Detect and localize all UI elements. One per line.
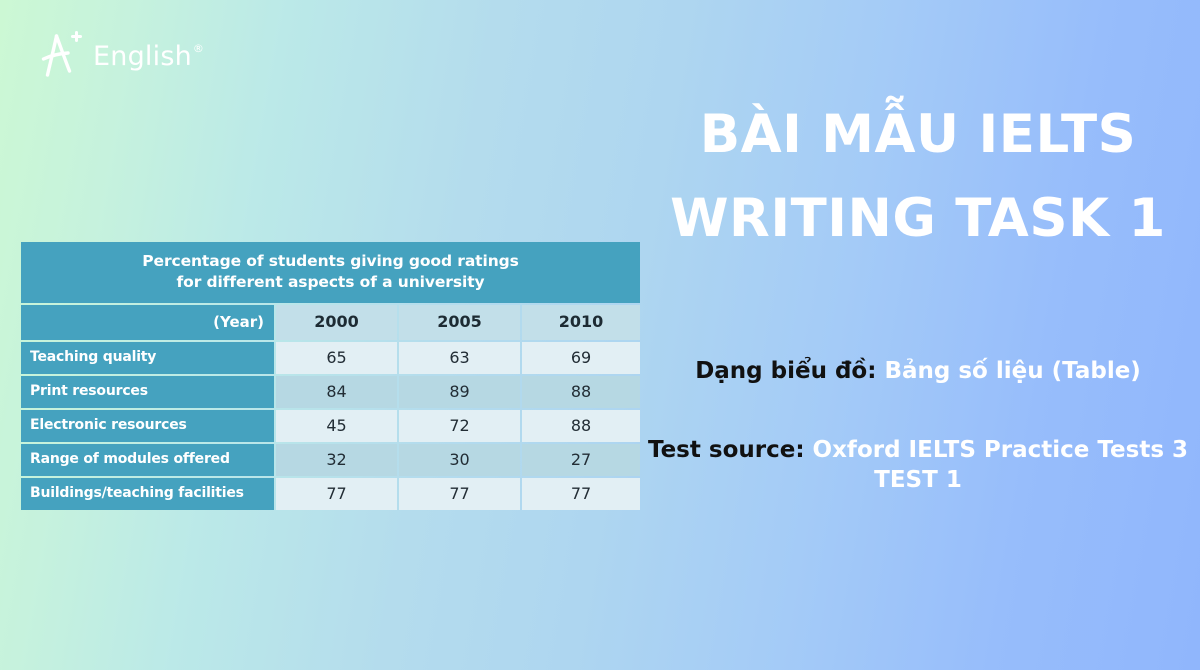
page-title: BÀI MẪU IELTS WRITING TASK 1 [648,108,1188,245]
headline-block: BÀI MẪU IELTS WRITING TASK 1 [648,108,1188,245]
table: Percentage of students giving good ratin… [19,240,642,512]
cell-teaching-quality-2010: 69 [522,342,640,374]
chart-type-label: Dạng biểu đồ: [695,358,876,384]
table-row: Teaching quality 65 63 69 [21,342,640,374]
chart-type-value: Bảng số liệu (Table) [884,358,1140,384]
table-row: Range of modules offered 32 30 27 [21,444,640,476]
cell-print-resources-2000: 84 [276,376,397,408]
cell-teaching-quality-2005: 63 [399,342,520,374]
cell-range-of-modules-2000: 32 [276,444,397,476]
table-title: Percentage of students giving good ratin… [21,242,640,303]
test-source-value-line2: TEST 1 [640,466,1196,496]
column-header-2000: 2000 [276,305,397,340]
cell-buildings-2005: 77 [399,478,520,510]
column-header-2010: 2010 [522,305,640,340]
test-source-value-line1: Oxford IELTS Practice Tests 3 [813,437,1188,463]
chart-type-line: Dạng biểu đồ: Bảng số liệu (Table) [640,357,1196,387]
registered-mark: ® [193,42,204,55]
column-header-2005: 2005 [399,305,520,340]
table-title-line2: for different aspects of a university [27,272,634,293]
row-label-teaching-quality: Teaching quality [21,342,274,374]
cell-range-of-modules-2005: 30 [399,444,520,476]
ielts-data-table: Percentage of students giving good ratin… [19,240,636,512]
row-label-electronic-resources: Electronic resources [21,410,274,442]
brand-logo: English® [34,27,203,81]
cell-buildings-2000: 77 [276,478,397,510]
headline-line1: BÀI MẪU IELTS [700,104,1137,165]
row-label-range-of-modules-offered: Range of modules offered [21,444,274,476]
table-title-row: Percentage of students giving good ratin… [21,242,640,303]
cell-print-resources-2010: 88 [522,376,640,408]
table-header-row: (Year) 2000 2005 2010 [21,305,640,340]
row-label-buildings-teaching-facilities: Buildings/teaching facilities [21,478,274,510]
row-label-print-resources: Print resources [21,376,274,408]
a-plus-icon [34,28,84,80]
test-source-line: Test source: Oxford IELTS Practice Tests… [640,436,1196,496]
cell-print-resources-2005: 89 [399,376,520,408]
cell-buildings-2010: 77 [522,478,640,510]
cell-range-of-modules-2010: 27 [522,444,640,476]
year-corner-label: (Year) [21,305,274,340]
table-row: Print resources 84 89 88 [21,376,640,408]
brand-wordmark-text: English [93,41,192,72]
table-row: Buildings/teaching facilities 77 77 77 [21,478,640,510]
cell-electronic-resources-2000: 45 [276,410,397,442]
test-source-label: Test source: [648,437,805,463]
meta-block: Dạng biểu đồ: Bảng số liệu (Table) Test … [640,357,1196,496]
cell-electronic-resources-2005: 72 [399,410,520,442]
cell-teaching-quality-2000: 65 [276,342,397,374]
headline-line2: WRITING TASK 1 [648,192,1188,245]
poster-canvas: English® Percentage of students giving g… [0,0,1200,670]
table-title-line1: Percentage of students giving good ratin… [142,252,518,270]
table-row: Electronic resources 45 72 88 [21,410,640,442]
cell-electronic-resources-2010: 88 [522,410,640,442]
brand-wordmark: English® [93,43,203,70]
